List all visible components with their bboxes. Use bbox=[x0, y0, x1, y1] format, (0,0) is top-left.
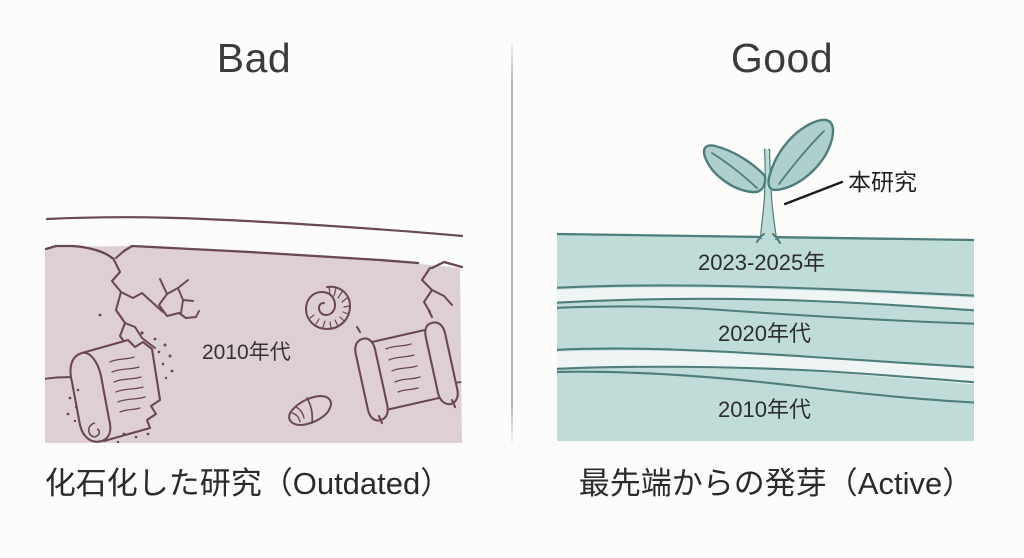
panel-caption-bad: 化石化した研究（Outdated） bbox=[0, 468, 504, 499]
panel-caption-good: 最先端からの発芽（Active） bbox=[520, 468, 1024, 499]
surface-line bbox=[47, 217, 462, 236]
stratum-label-2: 2010年代 bbox=[718, 399, 811, 421]
fossilized-rock-illustration bbox=[0, 0, 512, 470]
panel-bad: Bad bbox=[0, 0, 512, 558]
sprout bbox=[704, 120, 833, 243]
stratum-label-1: 2020年代 bbox=[718, 323, 811, 345]
slide-canvas: Bad bbox=[0, 0, 1024, 558]
panel-good: Good bbox=[512, 0, 1024, 558]
sprout-leaf-right bbox=[769, 120, 834, 190]
annotation-label-this-research: 本研究 bbox=[848, 171, 917, 194]
rock-era-label: 2010年代 bbox=[202, 342, 291, 363]
stratum-label-0: 2023-2025年 bbox=[698, 252, 825, 274]
